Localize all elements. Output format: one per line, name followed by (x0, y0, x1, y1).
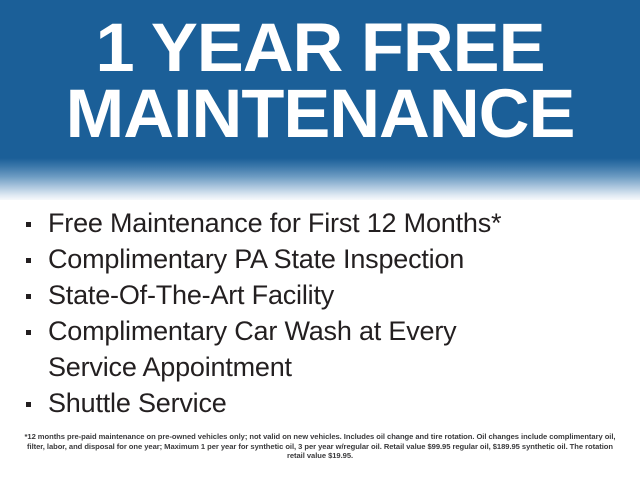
list-item: Complimentary Car Wash at Every Service … (0, 313, 640, 385)
list-item-label: Free Maintenance for First 12 Months* (48, 205, 640, 241)
list-item: Free Maintenance for First 12 Months* (0, 205, 640, 241)
list-item-label: State-Of-The-Art Facility (48, 277, 640, 313)
list-item: Shuttle Service (0, 385, 640, 421)
square-bullet-icon (26, 402, 31, 407)
list-item: Complimentary PA State Inspection (0, 241, 640, 277)
headline-line-1: 1 YEAR FREE (0, 12, 640, 84)
banner-gradient-fade (0, 158, 640, 200)
promotional-offer-card: 1 YEAR FREE MAINTENANCE Free Maintenance… (0, 0, 640, 480)
square-bullet-icon (26, 330, 31, 335)
benefits-list: Free Maintenance for First 12 Months* Co… (0, 205, 640, 421)
list-item-label: Complimentary PA State Inspection (48, 241, 640, 277)
headline-banner: 1 YEAR FREE MAINTENANCE (0, 0, 640, 200)
disclaimer-fine-print: *12 months pre-paid maintenance on pre-o… (20, 432, 620, 461)
list-item-label: Shuttle Service (48, 385, 640, 421)
list-item: State-Of-The-Art Facility (0, 277, 640, 313)
list-item-label: Complimentary Car Wash at Every Service … (48, 313, 640, 385)
headline-line-2: MAINTENANCE (0, 78, 640, 150)
square-bullet-icon (26, 258, 31, 263)
square-bullet-icon (26, 222, 31, 227)
square-bullet-icon (26, 294, 31, 299)
